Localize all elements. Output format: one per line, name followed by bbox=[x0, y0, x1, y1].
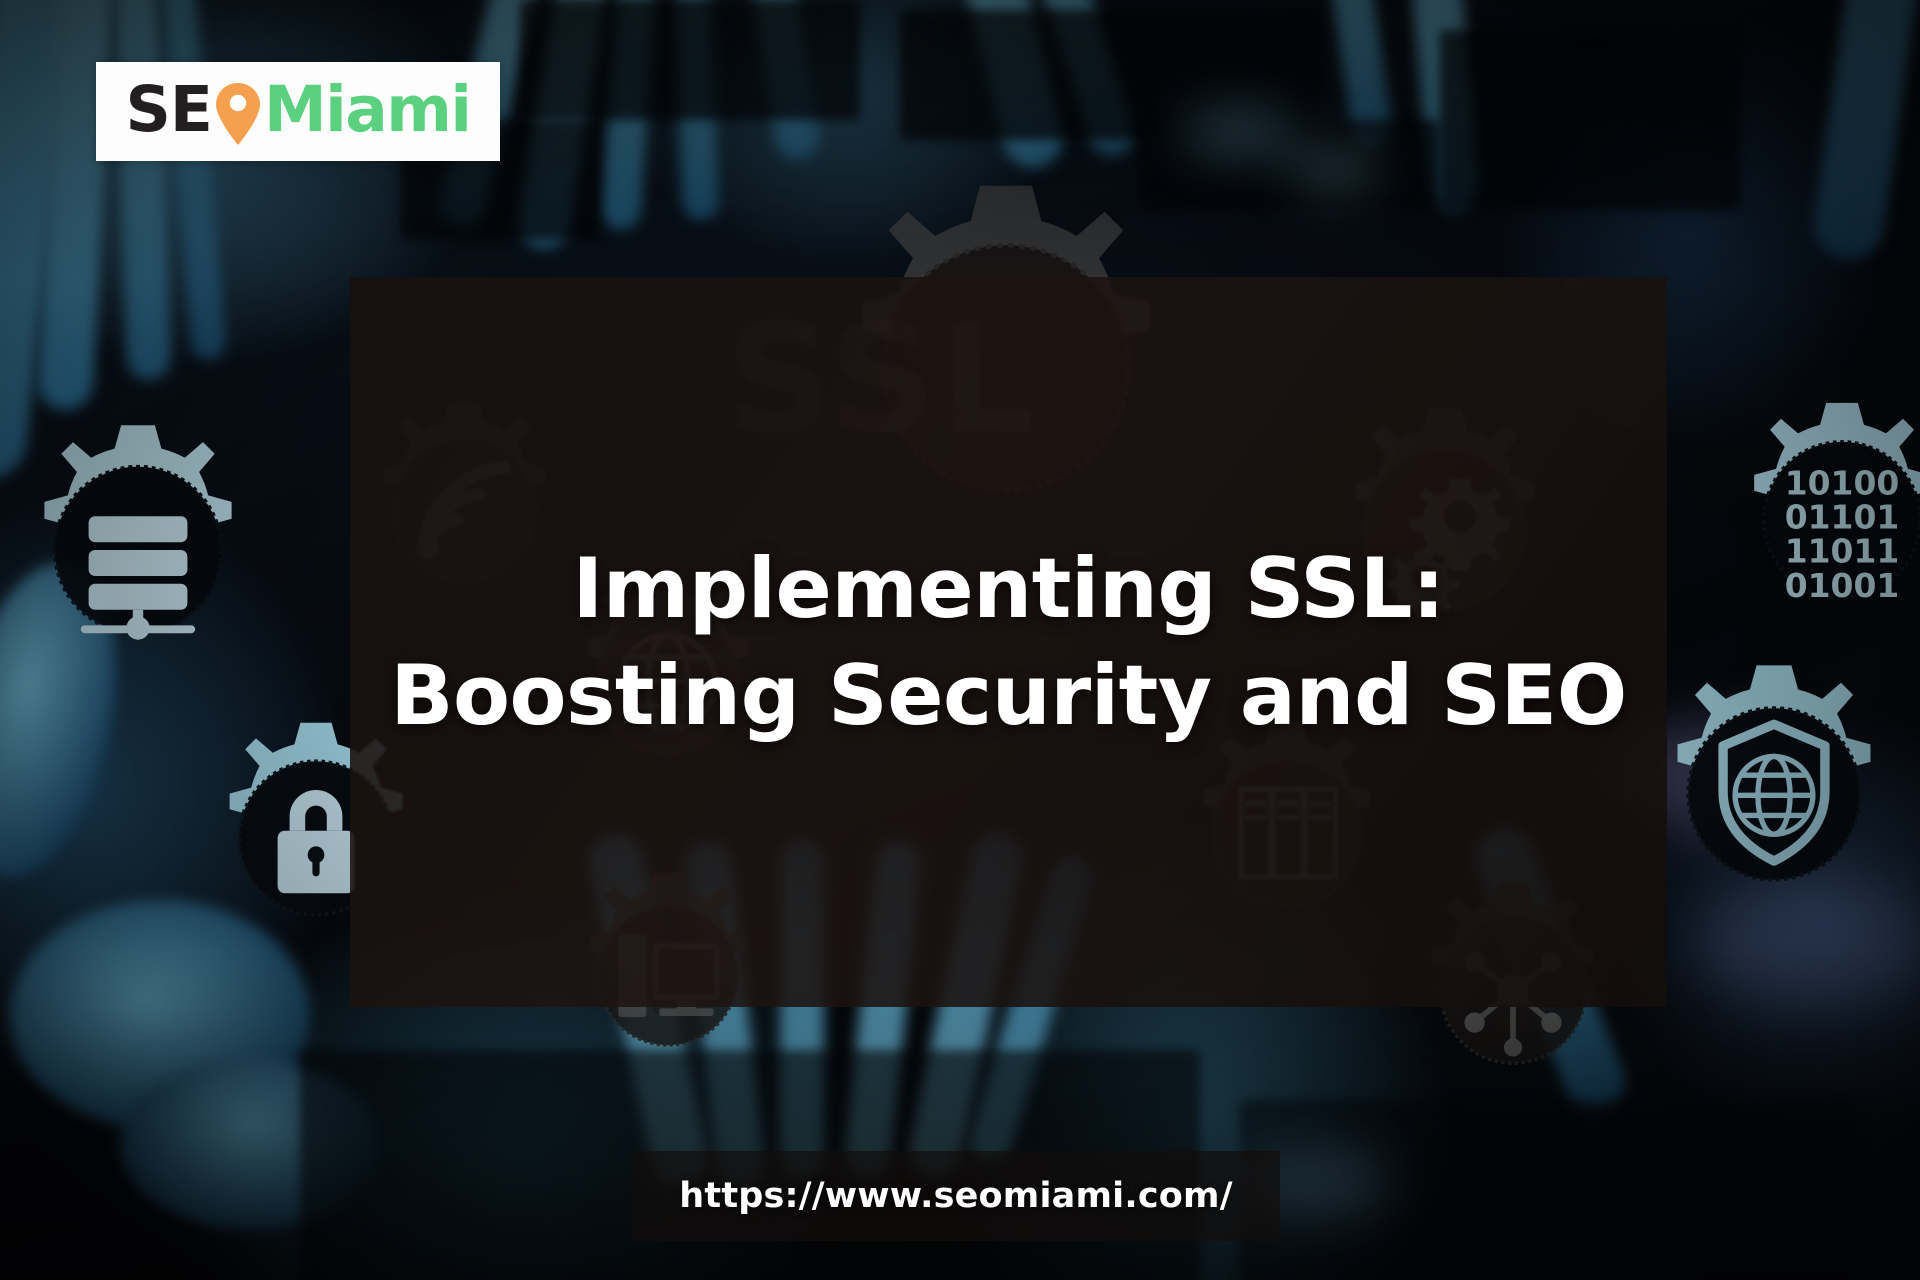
logo-text-miami: Miami bbox=[264, 73, 471, 146]
binary-line-3: 11011 bbox=[1785, 532, 1900, 571]
location-pin-icon bbox=[214, 82, 262, 144]
binary-line-4: 01001 bbox=[1785, 566, 1900, 605]
logo-text-se: SE bbox=[126, 73, 212, 146]
headline-block: Implementing SSL: Boosting Security and … bbox=[350, 277, 1667, 1007]
poster-canvas: SSL bbox=[0, 0, 1920, 1280]
website-url-text: https://www.seomiami.com/ bbox=[679, 1176, 1232, 1216]
headline-line-2: Boosting Security and SEO bbox=[390, 645, 1627, 746]
gear-binary-code-icon: 10100 01101 11011 01001 bbox=[1720, 398, 1920, 642]
gear-shield-globe-icon bbox=[1640, 660, 1908, 928]
website-url-band[interactable]: https://www.seomiami.com/ bbox=[632, 1151, 1280, 1241]
brand-logo[interactable]: SE Miami bbox=[96, 62, 500, 161]
binary-line-1: 10100 bbox=[1785, 463, 1900, 502]
gear-server-rack-icon bbox=[8, 420, 268, 680]
logo-lockup: SE Miami bbox=[126, 73, 471, 146]
headline-line-1: Implementing SSL: bbox=[572, 538, 1444, 639]
